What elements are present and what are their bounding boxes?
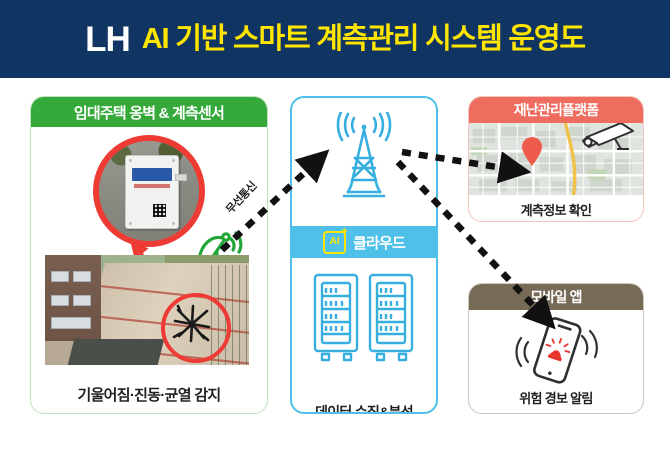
panel-mobile-app[interactable]: 모바일 앱 [468, 283, 644, 414]
sparkle-icon: ✦ [340, 227, 349, 238]
map-zone[interactable] [469, 123, 643, 195]
sensor-qr-code-icon [153, 204, 166, 217]
sensor-device-icon [125, 155, 179, 229]
building-window [73, 295, 91, 306]
server-rack-icon [312, 272, 416, 364]
panel-disaster-header: 재난관리플랫폼 [469, 97, 643, 123]
panel-sensor-header: 임대주택 옹벽 & 계측센서 [31, 97, 267, 127]
sensor-screw [172, 222, 175, 225]
crack-highlight-circle [161, 293, 231, 363]
panel-mobile-header: 모바일 앱 [469, 284, 643, 310]
panel-disaster-platform[interactable]: 재난관리플랫폼 [468, 96, 644, 222]
building-window [51, 271, 69, 282]
cell-tower-icon [321, 112, 407, 204]
server-zone [292, 258, 436, 408]
panel-sensor-caption: 기울어짐·진동·균열 감지 [31, 384, 267, 405]
cctv-camera-icon [577, 123, 641, 163]
building-window [51, 295, 69, 306]
wall-photo-building [45, 255, 101, 341]
panel-cloud[interactable]: AI ✦ 클라우드 [290, 96, 438, 414]
panel-sensor-body [31, 127, 267, 382]
sensor-screw [172, 159, 175, 162]
map-pin-icon[interactable] [521, 137, 543, 167]
sensor-screw [129, 222, 132, 225]
diagram-stage: 임대주택 옹벽 & 계측센서 [0, 78, 670, 454]
ai-badge-icon: AI ✦ [323, 231, 346, 254]
tower-zone [292, 98, 436, 226]
sensor-device-sublabel [134, 184, 170, 188]
cloud-band-label: 클라우드 [353, 232, 405, 253]
panel-disaster-caption: 계측정보 확인 [469, 200, 643, 219]
page-header: LH AI 기반 스마트 계측관리 시스템 운영도 [0, 0, 670, 78]
wall-photo-road [68, 339, 164, 365]
building-window [51, 317, 91, 329]
retaining-wall-photo [45, 255, 249, 365]
lh-logo-text: LH [85, 22, 130, 57]
smartphone-icon [508, 314, 604, 388]
page-title: AI 기반 스마트 계측관리 시스템 운영도 [142, 25, 585, 54]
building-window [73, 271, 91, 282]
phone-zone [469, 310, 643, 388]
ai-badge-label: AI [329, 237, 339, 247]
sensor-screw [129, 159, 132, 162]
sensor-highlight-circle [93, 135, 205, 247]
sensor-device-label [132, 168, 172, 181]
panel-sensor[interactable]: 임대주택 옹벽 & 계측센서 [30, 96, 268, 414]
panel-mobile-caption: 위험 경보 알림 [469, 388, 643, 407]
cloud-band: AI ✦ 클라우드 [292, 226, 436, 258]
sensor-device-photo [93, 135, 205, 247]
